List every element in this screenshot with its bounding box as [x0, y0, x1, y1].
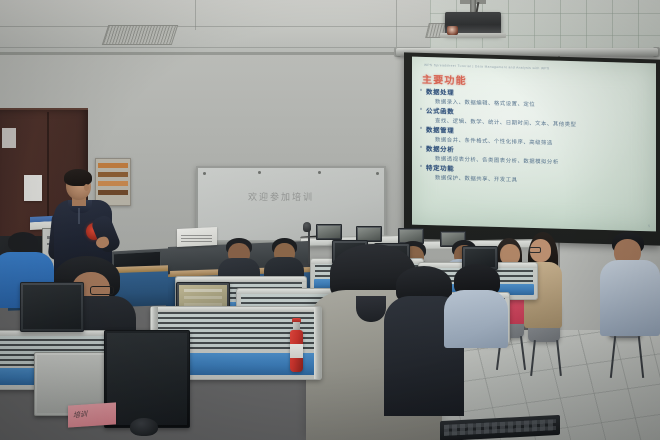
- whiteboard-screw: [203, 172, 206, 175]
- bottle-label: [290, 344, 303, 358]
- projection-screen: WPS Spreadsheet Tutorial | Data Manageme…: [412, 57, 656, 232]
- slide-title: 主要功能: [422, 71, 467, 87]
- classroom-photo: 欢迎参加培训 WPS Spreadsheet Tutorial | Data M…: [0, 0, 660, 440]
- lab-monitor-foreground: [104, 330, 190, 428]
- ceiling-vent: [102, 25, 178, 45]
- back-monitor: [316, 224, 342, 240]
- microphone-icon: [303, 222, 311, 232]
- decorative-wall-panel: [95, 158, 131, 206]
- panel-stripe: [98, 172, 128, 177]
- panel-stripe: [98, 163, 128, 168]
- panel-stripe: [98, 190, 128, 195]
- slide-page-number: 5: [648, 224, 650, 228]
- pink-label-text: 培训: [73, 409, 88, 421]
- panel-stripe: [98, 181, 128, 186]
- whiteboard-ghost-text: 欢迎参加培训: [248, 190, 314, 203]
- bullet-icon: [420, 146, 422, 148]
- instructor-ear: [84, 184, 89, 191]
- monitor-screen: [23, 285, 81, 329]
- student-torso: [600, 260, 660, 336]
- eyeglasses-icon: [90, 286, 114, 295]
- lab-monitor: [20, 282, 84, 332]
- whiteboard-screw: [318, 171, 321, 174]
- student-hair: [8, 232, 38, 252]
- bullet-icon: [420, 127, 422, 129]
- student-collar: [356, 296, 386, 322]
- whiteboard-screw: [258, 171, 261, 174]
- handout-text-lines: [181, 233, 212, 242]
- monitor-screen: [318, 226, 340, 238]
- posted-notice: [24, 175, 42, 201]
- eyeglasses-icon: [529, 247, 541, 253]
- ceiling-seam: [0, 47, 430, 48]
- pink-desk-label: 培训: [68, 402, 116, 427]
- posted-notice: [2, 128, 16, 148]
- ceiling-seam: [396, 0, 397, 52]
- ceiling-seam: [0, 26, 430, 27]
- bullet-icon: [420, 165, 422, 167]
- instructor-hair: [64, 169, 92, 186]
- bullet-icon: [420, 108, 422, 110]
- whiteboard-screw: [376, 172, 379, 175]
- ceiling-seam: [195, 0, 196, 30]
- slide-body: 数据处理 数据录入、数据编辑、格式设置、定位 公式函数 查找、逻辑、数学、统计、…: [426, 87, 652, 188]
- monitor-screen: [107, 333, 187, 425]
- partition-post: [314, 307, 321, 379]
- computer-mouse[interactable]: [130, 418, 158, 436]
- student-arm: [428, 394, 474, 418]
- bullet-icon: [420, 89, 422, 91]
- student-torso: [444, 290, 508, 348]
- monitor-screen: [358, 228, 380, 240]
- projector-lens-icon: [447, 26, 458, 35]
- instructor-placket: [78, 208, 80, 224]
